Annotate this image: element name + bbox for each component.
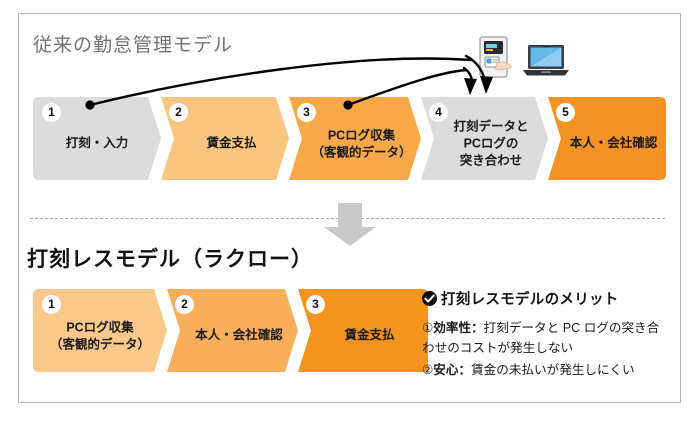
check-circle-icon [422,291,437,306]
step-number-badge: 2 [175,295,194,314]
step-number-badge: 2 [169,103,188,122]
step-number-badge: 3 [306,295,325,314]
infographic-canvas: 従来の勤怠管理モデル 1打刻・入力2賃金支払3PCログ収集 （客観的データ）4打… [0,0,700,429]
laptop-icon [523,44,569,77]
step-label: PCログ収集 （客観的データ） [289,116,421,162]
merits-heading-text: 打刻レスモデルのメリット [441,288,619,309]
bottom-flow-row: 1PCログ収集 （客観的データ）2本人・会社確認3賃金支払 [33,289,428,372]
step-label: 本人・会社確認 [548,125,666,151]
flow-step: 2本人・会社確認 [167,289,298,372]
down-arrow-icon [322,203,378,247]
merits-panel: 打刻レスモデルのメリット ①効率性：打刻データと PC ログの突き合わせのコスト… [422,288,670,381]
step-number-badge: 1 [42,295,61,314]
merit-key: 効率性： [433,321,483,335]
step-label: PCログ収集 （客観的データ） [33,308,167,354]
merit-key: 安心： [433,363,471,377]
flow-step: 1PCログ収集 （客観的データ） [33,289,167,372]
flow-step: 1打刻・入力 [33,97,161,180]
step-number-badge: 1 [42,103,61,122]
step-label: 打刻・入力 [33,125,161,151]
step-label: 賃金支払 [161,125,289,151]
step-label: 本人・会社確認 [167,317,298,343]
merit-item: ①効率性：打刻データと PC ログの突き合わせのコストが発生しない [422,318,670,359]
top-flow-row: 1打刻・入力2賃金支払3PCログ収集 （客観的データ）4打刻データと PCログの… [33,97,666,180]
merit-text: 賃金の未払いが発生しにくい [471,363,634,377]
flow-step: 3賃金支払 [298,289,428,372]
merit-item: ②安心：賃金の未払いが発生しにくい [422,360,670,380]
flow-step: 3PCログ収集 （客観的データ） [289,97,421,180]
merits-list: ①効率性：打刻データと PC ログの突き合わせのコストが発生しない②安心：賃金の… [422,318,670,380]
step-label: 賃金支払 [298,317,428,343]
flow-step: 4打刻データと PCログの 突き合わせ [421,97,548,180]
top-section-title: 従来の勤怠管理モデル [33,30,233,57]
merit-number: ② [422,363,433,377]
bottom-section-title: 打刻レスモデル（ラクロー） [27,243,313,273]
timeclock-icon [479,36,513,80]
step-number-badge: 3 [297,103,316,122]
merits-heading: 打刻レスモデルのメリット [422,288,670,309]
flow-step: 5本人・会社確認 [548,97,666,180]
step-number-badge: 5 [556,103,575,122]
flow-step: 2賃金支払 [161,97,289,180]
step-number-badge: 4 [429,103,448,122]
